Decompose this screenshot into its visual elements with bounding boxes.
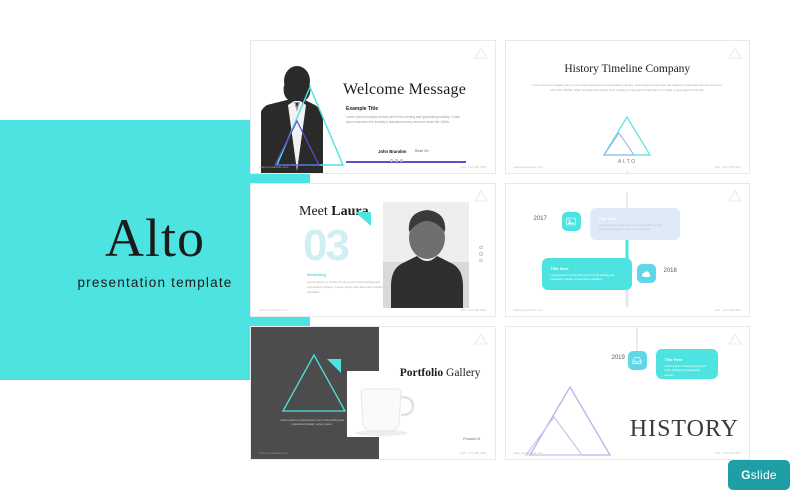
timeline-year-2017: 2017	[534, 216, 547, 222]
slide2-connector-line	[627, 171, 628, 174]
slide3-body: Lorem ipsum is simply dummy text of the …	[307, 280, 389, 295]
watermark-triangle-icon	[728, 333, 742, 345]
slide1-presenter-name: John Brandon	[378, 149, 406, 154]
image-icon	[566, 217, 576, 226]
timeline-card-2017-body: Lorem ipsum is simply dummy text of the …	[599, 224, 671, 233]
slide1-footer-right: Call : 123 456 7891	[460, 166, 486, 169]
slide2-logo-label: ALTO	[506, 159, 750, 165]
slide5-product-label: Product 01	[463, 437, 480, 441]
slide-timeline-2017-2018[interactable]: 2017 Title Here Lorem ipsum is simply du…	[505, 183, 751, 317]
slide5-title-light: Gallery	[446, 367, 480, 379]
slide1-read-on-label: Read On	[415, 149, 429, 153]
slide3-speech-arrow-icon	[355, 212, 373, 228]
slide5-footer-left: www.yourwebsite.com	[259, 452, 288, 455]
slide2-footer-left: www.yourwebsite.com	[514, 166, 543, 169]
slide-history[interactable]: 2019 Title Here Lorem ipsum is simply du…	[505, 326, 751, 460]
gslide-badge-g: G	[741, 468, 751, 482]
gslide-badge[interactable]: Gslide	[728, 460, 790, 490]
slide6-timeline-spine	[636, 327, 637, 353]
slide3-person-photo	[383, 202, 469, 308]
brand-subtitle: presentation template	[77, 275, 232, 290]
slide3-title-light: Meet	[299, 204, 331, 219]
timeline-badge-2018[interactable]	[637, 264, 656, 283]
cloud-icon	[641, 270, 652, 278]
slide6-card[interactable]: Title Here Lorem ipsum is simply dummy t…	[656, 349, 718, 379]
timeline-card-2017[interactable]: Title Here Lorem ipsum is simply dummy t…	[590, 208, 680, 240]
slide1-accent-rule	[346, 161, 466, 163]
timeline-card-2018-body: Lorem ipsum is simply dummy text of the …	[551, 274, 623, 283]
timeline-card-2017-title: Title Here	[599, 216, 671, 221]
slide-meet-laura[interactable]: Meet Laura 03 Marketing Lorem ipsum is s…	[250, 183, 496, 317]
slide3-footer-left: www.yourwebsite.com	[259, 309, 288, 312]
slide2-title: History Timeline Company	[506, 63, 750, 75]
slide6-footer-left: www.yourwebsite.com	[514, 452, 543, 455]
timeline-card-2018[interactable]: Title Here Lorem ipsum is simply dummy t…	[542, 258, 632, 290]
slide1-footer-left: www.yourwebsite.com	[259, 166, 288, 169]
slide-welcome-message[interactable]: Welcome Message Example Title Lorem ipsu…	[250, 40, 496, 174]
slide1-body: Lorem ipsum is simply dummy text of the …	[346, 115, 466, 125]
slide3-pager-dots[interactable]	[479, 246, 482, 262]
watermark-triangle-icon	[728, 190, 742, 202]
slide1-title: Welcome Message	[343, 81, 466, 99]
watermark-triangle-icon	[474, 47, 488, 59]
portfolio-triangle-graphic	[277, 349, 351, 417]
alto-logo-triangle-icon	[600, 113, 654, 159]
slide-grid: Welcome Message Example Title Lorem ipsu…	[250, 40, 750, 460]
slide3-big-number: 03	[303, 224, 348, 268]
history-triangle-graphic	[524, 383, 616, 460]
watermark-triangle-icon	[474, 333, 488, 345]
slide3-role-label: Marketing	[307, 272, 326, 277]
timeline-badge-2017[interactable]	[562, 212, 581, 231]
slide6-footer-right: Call : 123 456 7891	[715, 452, 741, 455]
slide4-footer-left: www.yourwebsite.com	[514, 309, 543, 312]
slide6-badge[interactable]	[628, 351, 647, 370]
slide5-footer-right: Call : 123 456 7891	[460, 452, 486, 455]
slide-portfolio-gallery[interactable]: Portfolio Gallery Lorem ipsum is simply …	[250, 326, 496, 460]
watermark-triangle-icon	[474, 190, 488, 202]
inbox-icon	[632, 356, 642, 365]
teal-triangle-graphic	[273, 81, 347, 171]
slide6-year: 2019	[612, 355, 625, 361]
timeline-card-2018-title: Title Here	[551, 266, 623, 271]
brand-title: Alto	[105, 211, 205, 265]
gslide-badge-rest: slide	[751, 468, 777, 482]
slide2-footer-right: Call : 123 456 7891	[715, 166, 741, 169]
slide4-footer-right: Call : 123 456 7891	[715, 309, 741, 312]
slide1-subtitle: Example Title	[346, 106, 378, 112]
slide1-pager-dots[interactable]	[390, 159, 403, 162]
poster-canvas: Alto presentation template	[0, 0, 800, 500]
slide-history-timeline-company[interactable]: History Timeline Company Lorem ipsum is …	[505, 40, 751, 174]
watermark-triangle-icon	[728, 47, 742, 59]
timeline-year-2018: 2018	[664, 268, 677, 274]
slide3-footer-right: Call : 123 456 7891	[460, 309, 486, 312]
slide5-title-bold: Portfolio	[400, 367, 446, 379]
slide6-card-body: Lorem ipsum is simply dummy text of the …	[665, 365, 709, 378]
portfolio-mug-photo	[347, 371, 423, 437]
slide2-body: Lorem ipsum is simply dummy text of the …	[532, 83, 724, 93]
slide6-card-title: Title Here	[665, 357, 709, 362]
slide6-word: HISTORY	[630, 416, 739, 443]
slide5-title: Portfolio Gallery	[400, 367, 481, 379]
slide5-caption: Lorem ipsum is simply dummy text of the …	[275, 419, 349, 428]
